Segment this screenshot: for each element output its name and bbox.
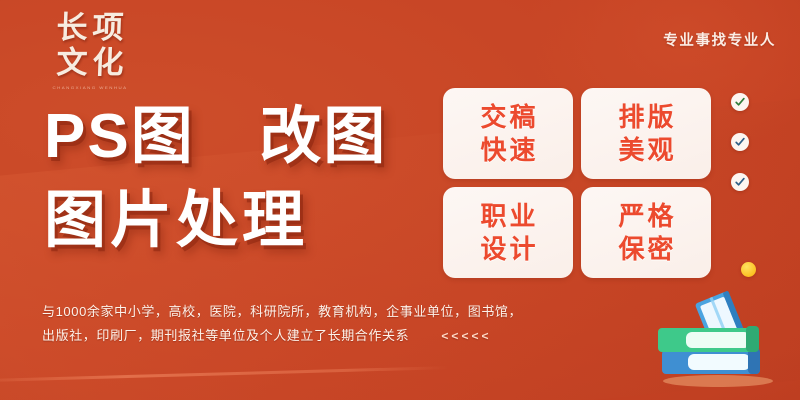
yellow-dot-icon (741, 262, 756, 277)
card-line-2: 保密 (615, 233, 676, 266)
check-icon (731, 173, 749, 191)
logo-line-2: 文化 (33, 47, 146, 80)
description-block: 与1000余家中小学，高校，医院，科研院所，教育机构，企事业单位，图书馆， 出版… (42, 300, 582, 348)
card-line-2: 设计 (477, 233, 538, 266)
headline-line-1: PS图 改图 (44, 98, 387, 176)
card-line-1: 交稿 (477, 101, 538, 134)
stacked-books-icon (648, 288, 798, 396)
promo-banner: 长项 文化 CHANGXIANG WENHUA 专业事找专业人 PS图 改图 图… (0, 0, 800, 400)
feature-card-fast-delivery[interactable]: 交稿 快速 (443, 88, 573, 179)
tagline: 专业事找专业人 (663, 29, 776, 50)
headline-line-2: 图片处理 (44, 182, 387, 260)
card-line-1: 严格 (615, 200, 676, 233)
feature-card-grid: 交稿 快速 排版 美观 职业 设计 严格 保密 (443, 88, 711, 278)
description-line-2-text: 出版社，印刷厂，期刊报社等单位及个人建立了长期合作关系 (42, 328, 409, 343)
headline-part-ps: PS图 (44, 102, 195, 171)
feature-card-professional-design[interactable]: 职业 设计 (443, 187, 573, 278)
check-icon (731, 93, 749, 111)
logo-subtitle: CHANGXIANG WENHUA (34, 85, 146, 90)
brand-logo: 长项 文化 CHANGXIANG WENHUA (34, 12, 146, 90)
feature-card-beautiful-layout[interactable]: 排版 美观 (581, 88, 711, 179)
feature-card-strict-confidentiality[interactable]: 严格 保密 (581, 187, 711, 278)
arrows-decoration: <<<<< (441, 324, 491, 348)
check-icon (731, 133, 749, 151)
headline-part-edit: 改图 (259, 102, 387, 171)
card-line-2: 快速 (477, 134, 538, 167)
card-line-1: 排版 (615, 101, 676, 134)
card-line-2: 美观 (615, 134, 676, 167)
description-line-1: 与1000余家中小学，高校，医院，科研院所，教育机构，企事业单位，图书馆， (42, 300, 582, 324)
page-title: PS图 改图 图片处理 (44, 98, 387, 260)
logo-line-1: 长项 (33, 12, 146, 45)
description-line-2: 出版社，印刷厂，期刊报社等单位及个人建立了长期合作关系 <<<<< (42, 324, 582, 348)
card-line-1: 职业 (477, 200, 538, 233)
